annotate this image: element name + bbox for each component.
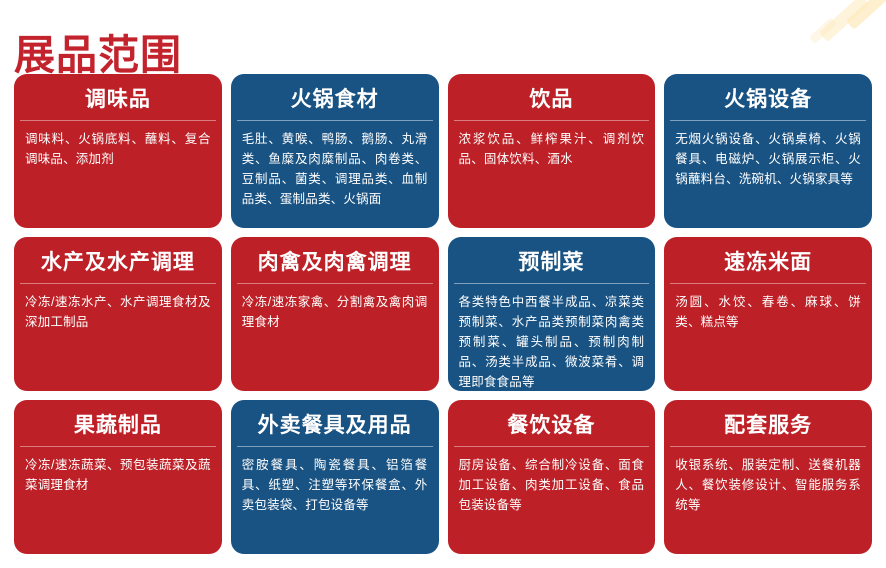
decorative-streak-icon bbox=[819, 0, 869, 42]
category-card-body: 各类特色中西餐半成品、凉菜类预制菜、水产品类预制菜肉禽类预制菜、罐头制品、预制肉… bbox=[448, 284, 656, 391]
category-card-body: 调味料、火锅底料、蘸料、复合调味品、添加剂 bbox=[14, 121, 222, 179]
category-card-body: 汤圆、水饺、春卷、麻球、饼类、糕点等 bbox=[664, 284, 872, 342]
page-title: 展品范围 bbox=[14, 25, 182, 85]
category-card[interactable]: 饮品浓浆饮品、鲜榨果汁、调剂饮品、固体饮料、酒水 bbox=[448, 74, 656, 228]
category-card-body: 收银系统、服装定制、送餐机器人、餐饮装修设计、智能服务系统等 bbox=[664, 447, 872, 525]
category-card-title: 配套服务 bbox=[664, 400, 872, 446]
corner-decoration bbox=[772, 0, 886, 42]
category-card[interactable]: 火锅设备无烟火锅设备、火锅桌椅、火锅餐具、电磁炉、火锅展示柜、火锅蘸料台、洗碗机… bbox=[664, 74, 872, 228]
category-card[interactable]: 速冻米面汤圆、水饺、春卷、麻球、饼类、糕点等 bbox=[664, 237, 872, 391]
category-card-body: 冷冻/速冻水产、水产调理食材及深加工制品 bbox=[14, 284, 222, 342]
exhibit-category-grid: 调味品调味料、火锅底料、蘸料、复合调味品、添加剂火锅食材毛肚、黄喉、鸭肠、鹅肠、… bbox=[14, 74, 872, 554]
category-card-title: 肉禽及肉禽调理 bbox=[231, 237, 439, 283]
category-card[interactable]: 外卖餐具及用品密胺餐具、陶瓷餐具、铝箔餐具、纸塑、注塑等环保餐盒、外卖包装袋、打… bbox=[231, 400, 439, 554]
category-card-body: 无烟火锅设备、火锅桌椅、火锅餐具、电磁炉、火锅展示柜、火锅蘸料台、洗碗机、火锅家… bbox=[664, 121, 872, 199]
category-card[interactable]: 火锅食材毛肚、黄喉、鸭肠、鹅肠、丸滑类、鱼糜及肉糜制品、肉卷类、豆制品、菌类、调… bbox=[231, 74, 439, 228]
category-card-title: 预制菜 bbox=[448, 237, 656, 283]
decorative-streak-icon bbox=[809, 17, 837, 44]
category-card[interactable]: 果蔬制品冷冻/速冻蔬菜、预包装蔬菜及蔬菜调理食材 bbox=[14, 400, 222, 554]
category-card-title: 餐饮设备 bbox=[448, 400, 656, 446]
decorative-streak-icon bbox=[846, 0, 886, 30]
category-card-body: 毛肚、黄喉、鸭肠、鹅肠、丸滑类、鱼糜及肉糜制品、肉卷类、豆制品、菌类、调理品类、… bbox=[231, 121, 439, 219]
category-card-body: 密胺餐具、陶瓷餐具、铝箔餐具、纸塑、注塑等环保餐盒、外卖包装袋、打包设备等 bbox=[231, 447, 439, 525]
category-card[interactable]: 预制菜各类特色中西餐半成品、凉菜类预制菜、水产品类预制菜肉禽类预制菜、罐头制品、… bbox=[448, 237, 656, 391]
category-card-title: 速冻米面 bbox=[664, 237, 872, 283]
category-card-body: 厨房设备、综合制冷设备、面食加工设备、肉类加工设备、食品包装设备等 bbox=[448, 447, 656, 525]
category-card[interactable]: 水产及水产调理冷冻/速冻水产、水产调理食材及深加工制品 bbox=[14, 237, 222, 391]
category-card-title: 果蔬制品 bbox=[14, 400, 222, 446]
category-card[interactable]: 配套服务收银系统、服装定制、送餐机器人、餐饮装修设计、智能服务系统等 bbox=[664, 400, 872, 554]
category-card-title: 饮品 bbox=[448, 74, 656, 120]
category-card-title: 水产及水产调理 bbox=[14, 237, 222, 283]
category-card-body: 冷冻/速冻蔬菜、预包装蔬菜及蔬菜调理食材 bbox=[14, 447, 222, 505]
category-card-title: 火锅食材 bbox=[231, 74, 439, 120]
category-card[interactable]: 肉禽及肉禽调理冷冻/速冻家禽、分割禽及禽肉调理食材 bbox=[231, 237, 439, 391]
category-card[interactable]: 餐饮设备厨房设备、综合制冷设备、面食加工设备、肉类加工设备、食品包装设备等 bbox=[448, 400, 656, 554]
category-card-body: 冷冻/速冻家禽、分割禽及禽肉调理食材 bbox=[231, 284, 439, 342]
category-card-title: 火锅设备 bbox=[664, 74, 872, 120]
category-card-title: 外卖餐具及用品 bbox=[231, 400, 439, 446]
category-card[interactable]: 调味品调味料、火锅底料、蘸料、复合调味品、添加剂 bbox=[14, 74, 222, 228]
category-card-body: 浓浆饮品、鲜榨果汁、调剂饮品、固体饮料、酒水 bbox=[448, 121, 656, 179]
